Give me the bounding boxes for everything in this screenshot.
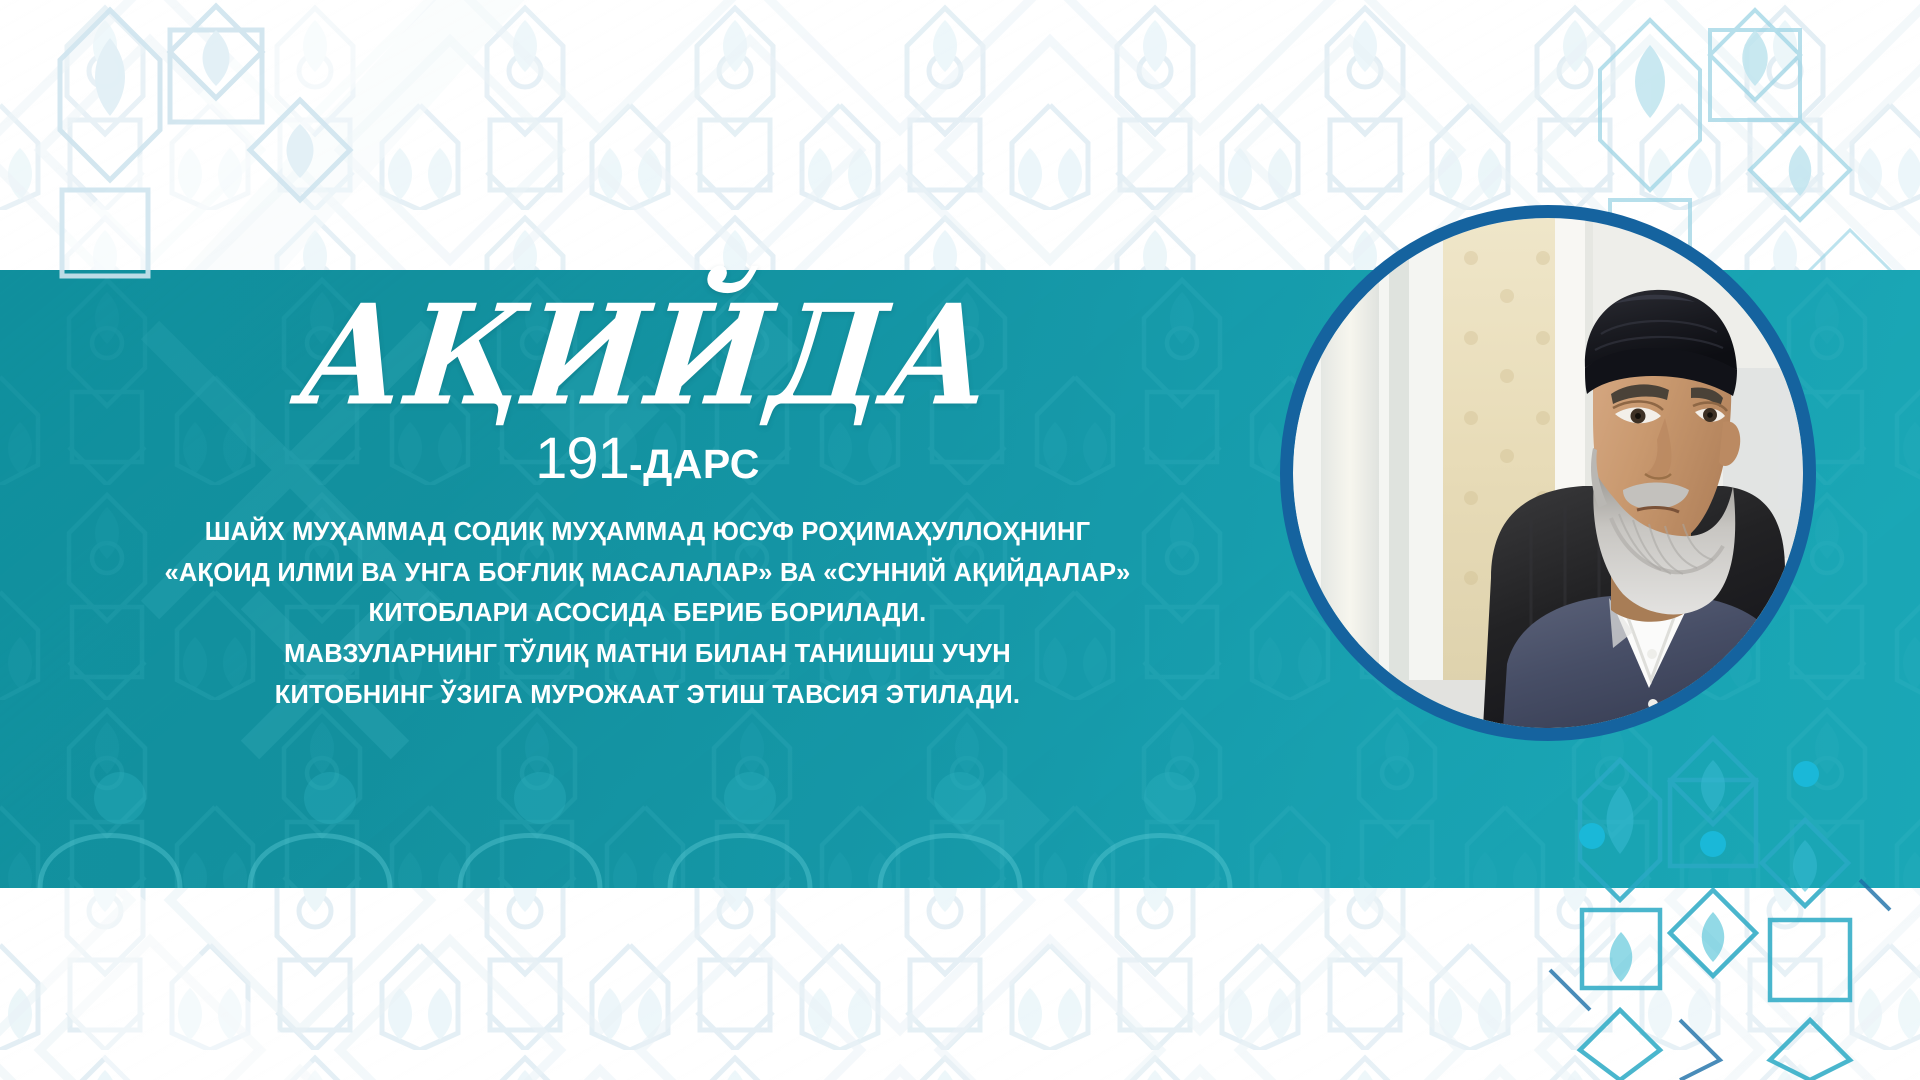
description-line: КИТОБНИНГ ЎЗИГА МУРОЖААТ ЭТИШ ТАВСИЯ ЭТИ… (275, 677, 1020, 715)
description-line: МАВЗУЛАРНИНГ ТЎЛИҚ МАТНИ БИЛАН ТАНИШИШ У… (284, 636, 1011, 674)
ornament-dot (1700, 831, 1726, 857)
lesson-number-label: 191-ДАРС (535, 430, 760, 488)
portrait-ring (1280, 205, 1816, 741)
ornament-dot (1793, 761, 1819, 787)
ornament-dot (1579, 823, 1605, 849)
description-lines: ШАЙХ МУҲАММАД СОДИҚ МУҲАММАД ЮСУФ РОҲИМА… (164, 514, 1130, 715)
lesson-suffix: -ДАРС (629, 441, 760, 487)
top-left-ornament-icon (0, 0, 420, 300)
portrait-container (1280, 205, 1816, 741)
banner-text-block: АҚИЙДА 191-ДАРС ШАЙХ МУҲАММАД СОДИҚ МУҲА… (0, 270, 1295, 888)
bottom-right-ornament-icon (1530, 720, 1920, 1080)
page-title: АҚИЙДА (294, 287, 1000, 425)
description-line: «АҚОИД ИЛМИ ВА УНГА БОҒЛИҚ МАСАЛАЛАР» ВА… (164, 555, 1130, 593)
description-line: КИТОБЛАРИ АСОСИДА БЕРИБ БОРИЛАДИ. (369, 595, 927, 633)
description-line: ШАЙХ МУҲАММАД СОДИҚ МУҲАММАД ЮСУФ РОҲИМА… (205, 514, 1091, 552)
banner-canvas: АҚИЙДА 191-ДАРС ШАЙХ МУҲАММАД СОДИҚ МУҲА… (0, 0, 1920, 1080)
